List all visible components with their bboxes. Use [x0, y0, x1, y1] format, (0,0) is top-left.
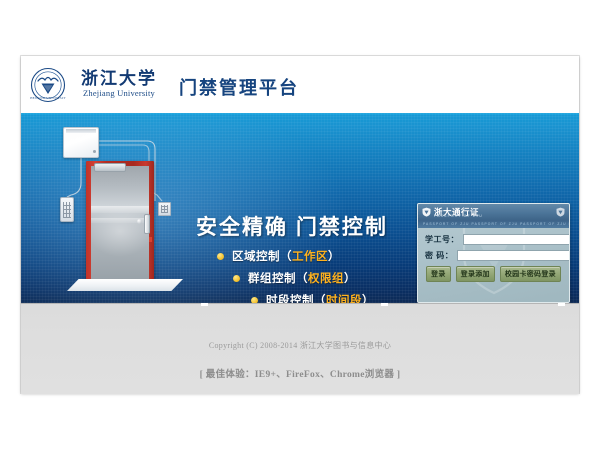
- list-item: 时段控制（时间段）: [217, 292, 374, 303]
- zju-seal-icon: ZHEJIANG UNIVERSITY: [30, 67, 66, 103]
- bullet-dot-icon: [217, 253, 224, 260]
- banner-slogan: 安全精确 门禁控制: [196, 211, 388, 241]
- student-staff-id-field[interactable]: [463, 234, 570, 245]
- feature-list: 区域控制（工作区） 群组控制（权限组） 时段控制（时间段）: [217, 248, 374, 303]
- floor-plate: [67, 279, 183, 291]
- door-leaf: [91, 166, 149, 283]
- shield-icon: [556, 207, 565, 217]
- list-item: 区域控制（工作区）: [217, 248, 374, 264]
- feature-accent: 工作区: [292, 248, 328, 264]
- keypad-reader-icon: [60, 197, 74, 222]
- footer-notch: [381, 303, 388, 306]
- svg-text:ZHEJIANG UNIVERSITY: ZHEJIANG UNIVERSITY: [30, 96, 66, 100]
- door-closer-icon: [94, 163, 126, 172]
- feature-label: 时段控制（: [266, 292, 326, 303]
- feature-tail: ）: [362, 292, 374, 303]
- login-button-row: 登录 登录添加 校园卡密码登录: [425, 266, 562, 282]
- login-button[interactable]: 登录: [426, 266, 451, 282]
- feature-accent: 权限组: [308, 270, 344, 286]
- login-panel: 浙大通行证 PASSPORT OF ZJU PASSPORT OF ZJU PA…: [417, 203, 570, 303]
- student-staff-id-label: 学工号：: [425, 234, 459, 245]
- footer-notch: [201, 303, 208, 306]
- bullet-dot-icon: [233, 275, 240, 282]
- door-strike-indicator: [149, 237, 152, 242]
- campus-card-password-login-button[interactable]: 校园卡密码登录: [500, 266, 561, 282]
- banner-top-rule: [21, 113, 579, 115]
- site-footer: Copyright (C) 2008-2014 浙江大学图书与信息中心 [ 最佳…: [21, 303, 579, 394]
- password-field[interactable]: [457, 250, 570, 261]
- shield-icon: [422, 207, 431, 217]
- feature-accent: 时间段: [326, 292, 362, 303]
- page-title: 门禁管理平台: [179, 74, 299, 100]
- login-add-button[interactable]: 登录添加: [456, 266, 495, 282]
- feature-label: 群组控制（: [248, 270, 308, 286]
- door-access-control-illustration: [43, 121, 203, 301]
- feature-label: 区域控制（: [232, 248, 292, 264]
- footer-notch: [558, 303, 565, 306]
- login-panel-subtitle: PASSPORT OF ZJU: [434, 214, 483, 218]
- browser-recommendation-text: [ 最佳体验：IE9+、FireFox、Chrome浏览器 ]: [21, 366, 579, 380]
- passport-strip-text: PASSPORT OF ZJU PASSPORT OF ZJU PASSPORT…: [418, 222, 569, 226]
- login-form: 学工号： 密 码： 登录 登录添加 校园卡密码登录: [418, 228, 569, 302]
- card-reader-icon: [158, 202, 171, 216]
- university-name-en: Zhejiang University: [73, 88, 165, 99]
- password-label: 密 码：: [425, 250, 453, 261]
- login-panel-header: 浙大通行证 PASSPORT OF ZJU: [418, 204, 569, 220]
- password-row: 密 码：: [425, 250, 562, 261]
- feature-tail: ）: [328, 248, 340, 264]
- door-handle-icon: [144, 214, 150, 234]
- university-name: 浙江大学 Zhejiang University: [73, 69, 165, 99]
- feature-tail: ）: [344, 270, 356, 286]
- controller-box-icon: [63, 127, 99, 158]
- door-lock-icon: [137, 219, 142, 224]
- hero-banner: 安全精确 门禁控制 区域控制（工作区） 群组控制（权限组） 时段控制（时间段）: [21, 113, 579, 303]
- list-item: 群组控制（权限组）: [217, 270, 374, 286]
- site-card: ZHEJIANG UNIVERSITY 浙江大学 Zhejiang Univer…: [21, 56, 579, 393]
- university-name-cn: 浙江大学: [73, 69, 165, 88]
- door-frame: [86, 161, 154, 283]
- site-header: ZHEJIANG UNIVERSITY 浙江大学 Zhejiang Univer…: [21, 56, 579, 113]
- passport-strip: PASSPORT OF ZJU PASSPORT OF ZJU PASSPORT…: [418, 220, 569, 228]
- student-staff-id-row: 学工号：: [425, 234, 562, 245]
- copyright-text: Copyright (C) 2008-2014 浙江大学图书与信息中心: [21, 340, 579, 351]
- page-root: ZHEJIANG UNIVERSITY 浙江大学 Zhejiang Univer…: [0, 0, 600, 450]
